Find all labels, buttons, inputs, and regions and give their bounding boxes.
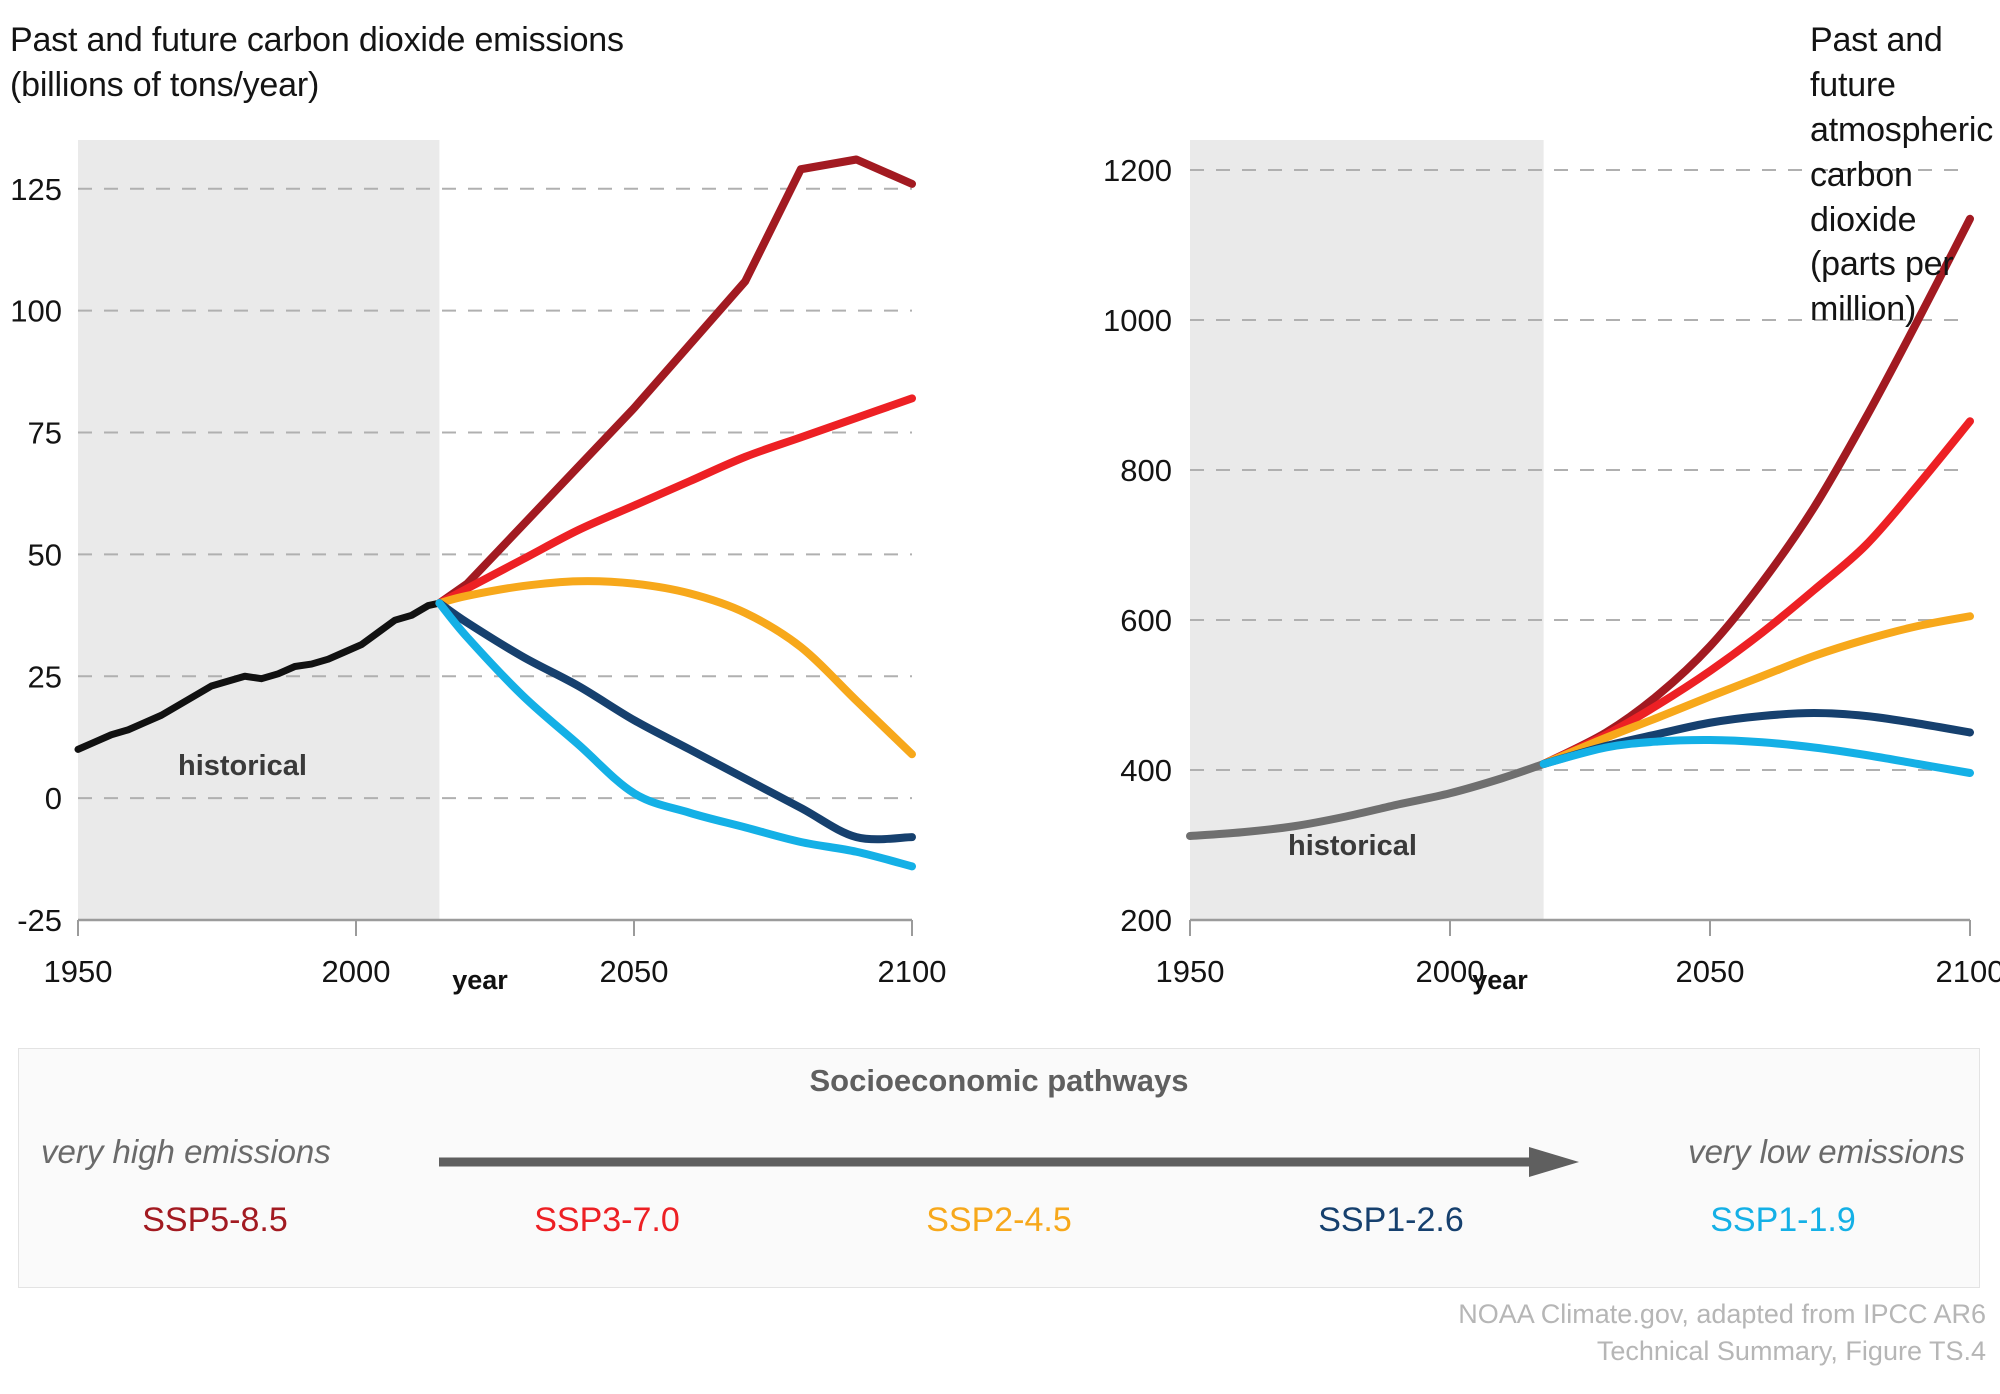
concentration-chart-title: Past and future atmospheric carbon dioxi… [1810,18,2000,332]
historical-shaded-region [78,140,439,920]
y-axis-tick-label: 400 [1120,753,1172,788]
legend-ssp-list: SSP5-8.5SSP3-7.0SSP2-4.5SSP1-2.6SSP1-1.9 [19,1201,1979,1240]
historical-region-label: historical [1288,830,1417,862]
y-axis-tick-label: 125 [10,172,62,207]
y-axis-tick-label: 0 [45,781,62,816]
emissions-chart-svg: 1950200020502100-250255075100125historic… [0,0,1000,1030]
concentration-panel: Past and future atmospheric carbon dioxi… [1000,0,2000,1030]
emissions-panel: Past and future carbon dioxide emissions… [0,0,1000,1030]
series-line-ssp3-7-0 [439,398,912,603]
y-axis-tick-label: -25 [17,903,62,938]
arrow-head [1529,1147,1579,1177]
y-axis-tick-label: 1000 [1103,303,1172,338]
legend-item-ssp3-7-0[interactable]: SSP3-7.0 [534,1201,680,1240]
y-axis-tick-label: 100 [10,294,62,329]
series-line-ssp2-4-5 [439,581,912,754]
legend-item-ssp1-1-9[interactable]: SSP1-1.9 [1710,1201,1856,1240]
legend-very-low-emissions-label: very low emissions [1688,1133,1965,1171]
y-axis-tick-label: 600 [1120,603,1172,638]
series-line-ssp1-2-6 [439,603,912,839]
historical-region-label: historical [178,750,307,782]
legend-panel: Socioeconomic pathways very high emissio… [18,1048,1980,1288]
y-axis-tick-label: 50 [28,537,62,572]
y-axis-tick-label: 800 [1120,453,1172,488]
legend-heading: Socioeconomic pathways [19,1063,1979,1099]
legend-very-high-emissions-label: very high emissions [41,1133,331,1171]
legend-item-ssp2-4-5[interactable]: SSP2-4.5 [926,1201,1072,1240]
legend-item-ssp1-2-6[interactable]: SSP1-2.6 [1318,1201,1464,1240]
series-line-ssp1-1-9 [1544,740,1970,773]
concentration-x-axis-label: year [1000,965,2000,996]
y-axis-tick-label: 1200 [1103,153,1172,188]
legend-arrow-icon [439,1145,1579,1179]
legend-item-ssp5-8-5[interactable]: SSP5-8.5 [142,1201,288,1240]
emissions-chart-title: Past and future carbon dioxide emissions… [10,18,624,108]
y-axis-tick-label: 200 [1120,903,1172,938]
attribution-text: NOAA Climate.gov, adapted from IPCC AR6 … [1006,1296,1986,1371]
series-line-ssp5-8-5 [439,160,912,604]
historical-shaded-region [1190,140,1544,920]
y-axis-tick-label: 75 [28,416,62,451]
emissions-x-axis-label: year [0,965,960,996]
y-axis-tick-label: 25 [28,659,62,694]
